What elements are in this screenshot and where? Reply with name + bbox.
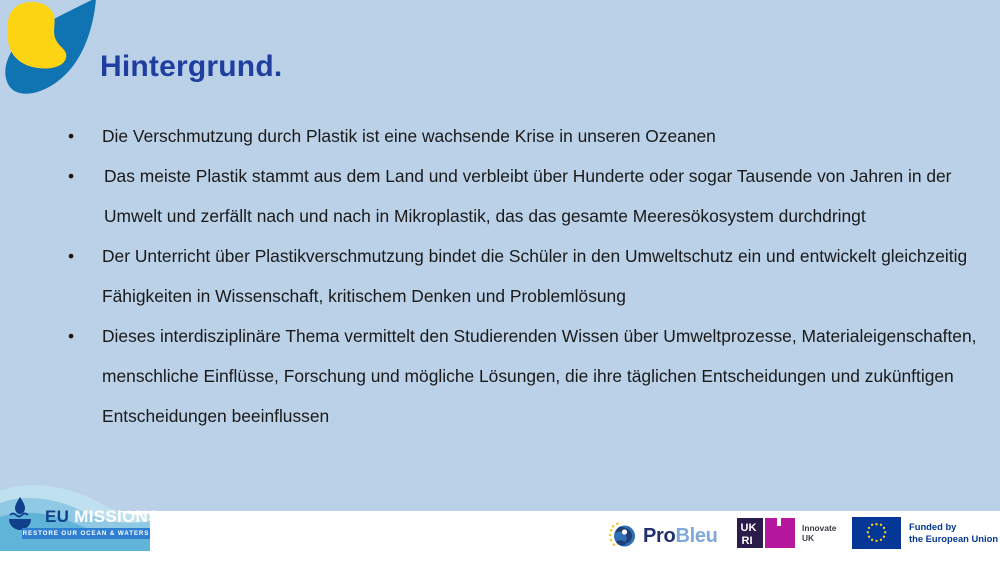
probleu-bleu: Bleu — [675, 525, 717, 547]
svg-text:UK: UK — [741, 522, 757, 534]
probleu-logo: ProBleu — [608, 521, 718, 551]
list-item: • Die Verschmutzung durch Plastik ist ei… — [60, 116, 990, 156]
bullet-list: • Die Verschmutzung durch Plastik ist ei… — [60, 116, 990, 436]
eu-missions-eu: EU — [45, 507, 69, 526]
eu-missions-wordmark: EU MISSIONS — [45, 507, 160, 527]
eu-missions-logo: EU MISSIONS RESTORE OUR OCEAN & WATERS — [0, 483, 150, 551]
eu-missions-missions: MISSIONS — [74, 507, 160, 526]
trailing-ellipsis: .... — [329, 406, 356, 426]
bullet-marker: • — [68, 236, 74, 276]
bullet-marker: • — [68, 316, 74, 356]
innovate-uk-line1: Innovate — [802, 523, 836, 534]
eu-missions-tagline: RESTORE OUR OCEAN & WATERS — [22, 528, 150, 539]
svg-text:RI: RI — [742, 535, 753, 547]
list-item-text: Dieses interdisziplinäre Thema vermittel… — [102, 326, 976, 426]
list-item-text: Das meiste Plastik stammt aus dem Land u… — [104, 166, 951, 226]
innovate-uk-logo: UK RI Innovate UK — [737, 517, 836, 549]
leaf-drop-logo-icon — [0, 0, 108, 108]
probleu-wordmark: ProBleu — [643, 525, 718, 548]
list-item-text: Der Unterricht über Plastikverschmutzung… — [102, 246, 967, 306]
page-title: Hintergrund. — [100, 50, 282, 84]
eu-flag-icon — [852, 517, 901, 549]
probleu-pro: Pro — [643, 525, 675, 547]
eu-funding-line2: the European Union — [909, 533, 998, 545]
innovate-uk-wordmark: Innovate UK — [802, 523, 836, 544]
list-item: • Der Unterricht über Plastikverschmutzu… — [60, 236, 990, 316]
list-item-text: Die Verschmutzung durch Plastik ist eine… — [102, 126, 716, 146]
ukri-innovate-uk-mark-icon: UK RI — [737, 518, 795, 548]
eu-funding-line1: Funded by — [909, 521, 998, 533]
bullet-marker: • — [68, 156, 74, 196]
list-item: • Dieses interdisziplinäre Thema vermitt… — [60, 316, 990, 436]
bullet-marker: • — [68, 116, 74, 156]
list-item: • Das meiste Plastik stammt aus dem Land… — [60, 156, 990, 236]
innovate-uk-line2: UK — [802, 533, 836, 544]
eu-funding-wordmark: Funded by the European Union — [909, 521, 998, 545]
probleu-swirl-icon — [608, 521, 638, 551]
slide-canvas: Hintergrund. • Die Verschmutzung durch P… — [0, 0, 1000, 563]
eu-funding-logo: Funded by the European Union — [852, 517, 998, 549]
